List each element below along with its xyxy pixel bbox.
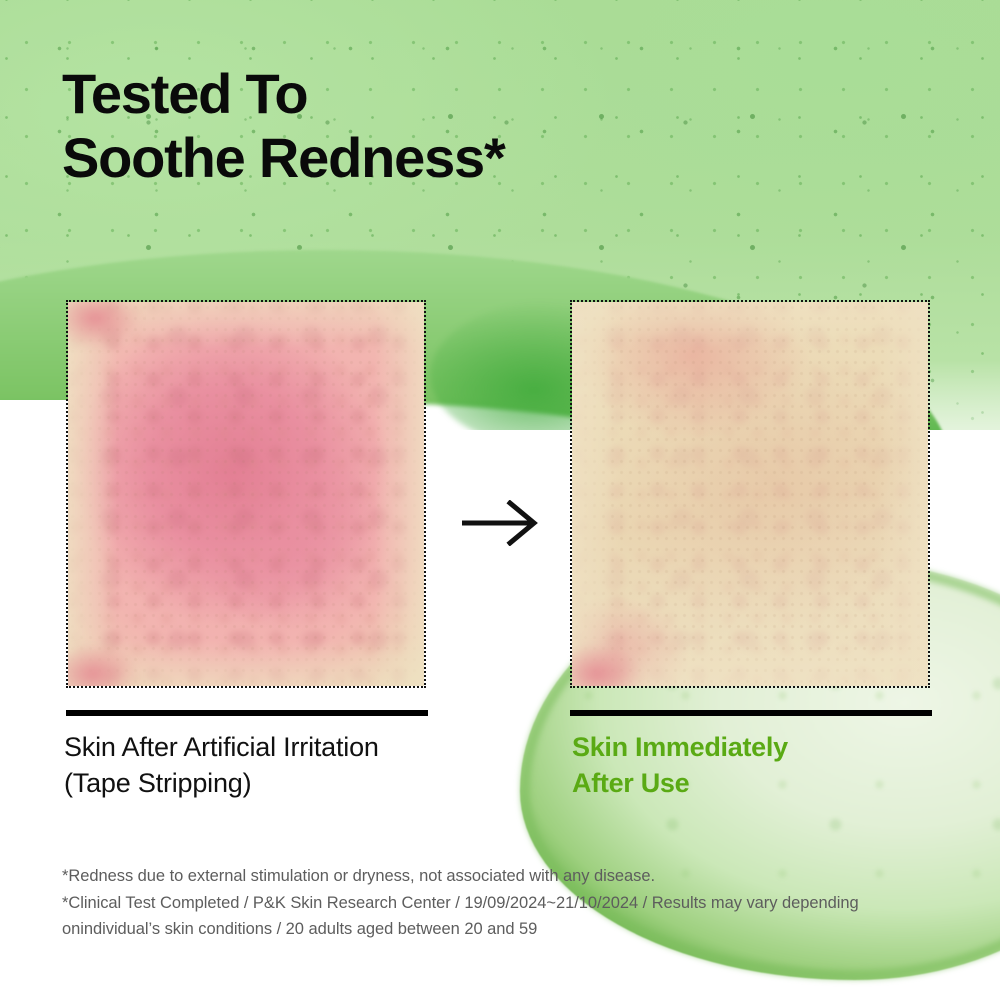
before-corner-blush-top-left bbox=[66, 300, 140, 348]
before-caption-rule bbox=[66, 710, 428, 716]
after-caption: Skin Immediately After Use bbox=[572, 730, 788, 801]
soothe-redness-infographic: Tested To Soothe Redness* Skin After Art… bbox=[0, 0, 1000, 1000]
before-caption: Skin After Artificial Irritation (Tape S… bbox=[64, 730, 379, 801]
before-skin-photo bbox=[66, 300, 426, 688]
after-corner-blush-bottom-left bbox=[570, 644, 642, 688]
after-panel-edge-fade bbox=[572, 302, 928, 686]
page-title: Tested To Soothe Redness* bbox=[62, 62, 505, 190]
before-corner-blush-bottom-left bbox=[66, 644, 138, 688]
white-left-margin bbox=[0, 400, 70, 1000]
disclaimer-text: *Redness due to external stimulation or … bbox=[62, 863, 952, 943]
before-panel-edge-fade bbox=[68, 302, 424, 686]
arrow-right-icon bbox=[460, 500, 542, 546]
after-skin-photo bbox=[570, 300, 930, 688]
after-caption-rule bbox=[570, 710, 932, 716]
